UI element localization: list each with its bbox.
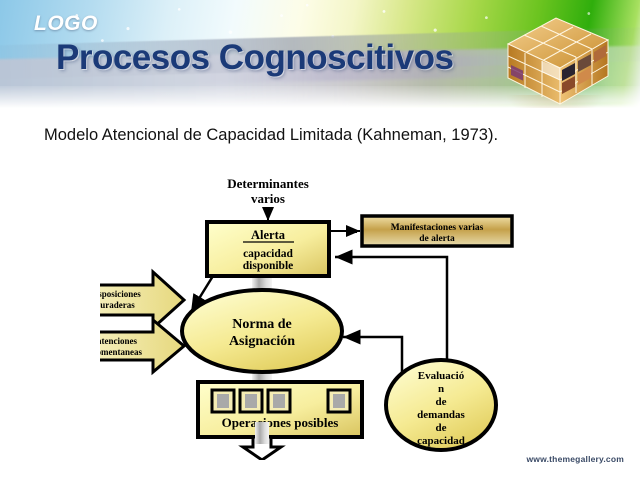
page-title: Procesos Cognoscitivos: [56, 38, 453, 78]
intenciones-line1: Intenciones: [100, 336, 137, 346]
node-norma-de-asignacion: Norma de Asignación: [182, 290, 342, 372]
norma-line1: Norma de: [232, 317, 292, 332]
logo-placeholder: LOGO: [34, 12, 98, 36]
evaluacion-line5: de: [436, 422, 447, 434]
intenciones-line2: Momentaneas: [100, 347, 142, 357]
footer-url: www.themegallery.com: [526, 454, 624, 464]
slide-subtitle: Modelo Atencional de Capacidad Limitada …: [44, 126, 498, 145]
node-determinantes-varios: Determinantes varios: [227, 176, 309, 206]
node-alerta: Alerta capacidad disponible: [207, 222, 329, 276]
node-disposiciones-duraderas: Disposiciones duraderas: [100, 272, 184, 328]
alerta-line2: disponible: [243, 260, 294, 272]
determinantes-line2: varios: [251, 191, 285, 206]
node-manifestaciones: Manifestaciones varias de alerta: [362, 216, 512, 246]
evaluacion-line1: Evaluació: [418, 370, 465, 382]
node-evaluacion-demandas: Evaluació n de demandas de capacidad: [386, 360, 496, 450]
alerta-line1: capacidad: [243, 248, 293, 260]
evaluacion-line6: capacidad: [417, 435, 465, 447]
manifestaciones-line1: Manifestaciones varias: [391, 223, 484, 233]
evaluacion-line3: de: [436, 396, 447, 408]
manifestaciones-line2: de alerta: [419, 234, 455, 244]
norma-line2: Asignación: [229, 334, 295, 349]
evaluacion-line2: n: [438, 383, 444, 395]
alerta-title: Alerta: [251, 228, 286, 242]
diagram-canvas: Determinantes varios Alerta capacidad di…: [100, 160, 524, 460]
operaciones-label: Operaciones posibles: [222, 415, 339, 430]
node-intenciones-momentaneas: Intenciones Momentaneas: [100, 320, 184, 372]
node-operaciones-posibles: Operaciones posibles: [198, 382, 362, 437]
slide-header-banner: LOGO Procesos Cognoscitivos: [0, 0, 640, 108]
determinantes-line1: Determinantes: [227, 176, 309, 191]
photo-cube-icon: [498, 8, 616, 108]
operaciones-slot-group: [212, 390, 350, 412]
disposiciones-line1: Disposiciones: [100, 289, 141, 299]
evaluacion-line4: demandas: [417, 409, 465, 421]
disposiciones-line2: duraderas: [100, 300, 135, 310]
